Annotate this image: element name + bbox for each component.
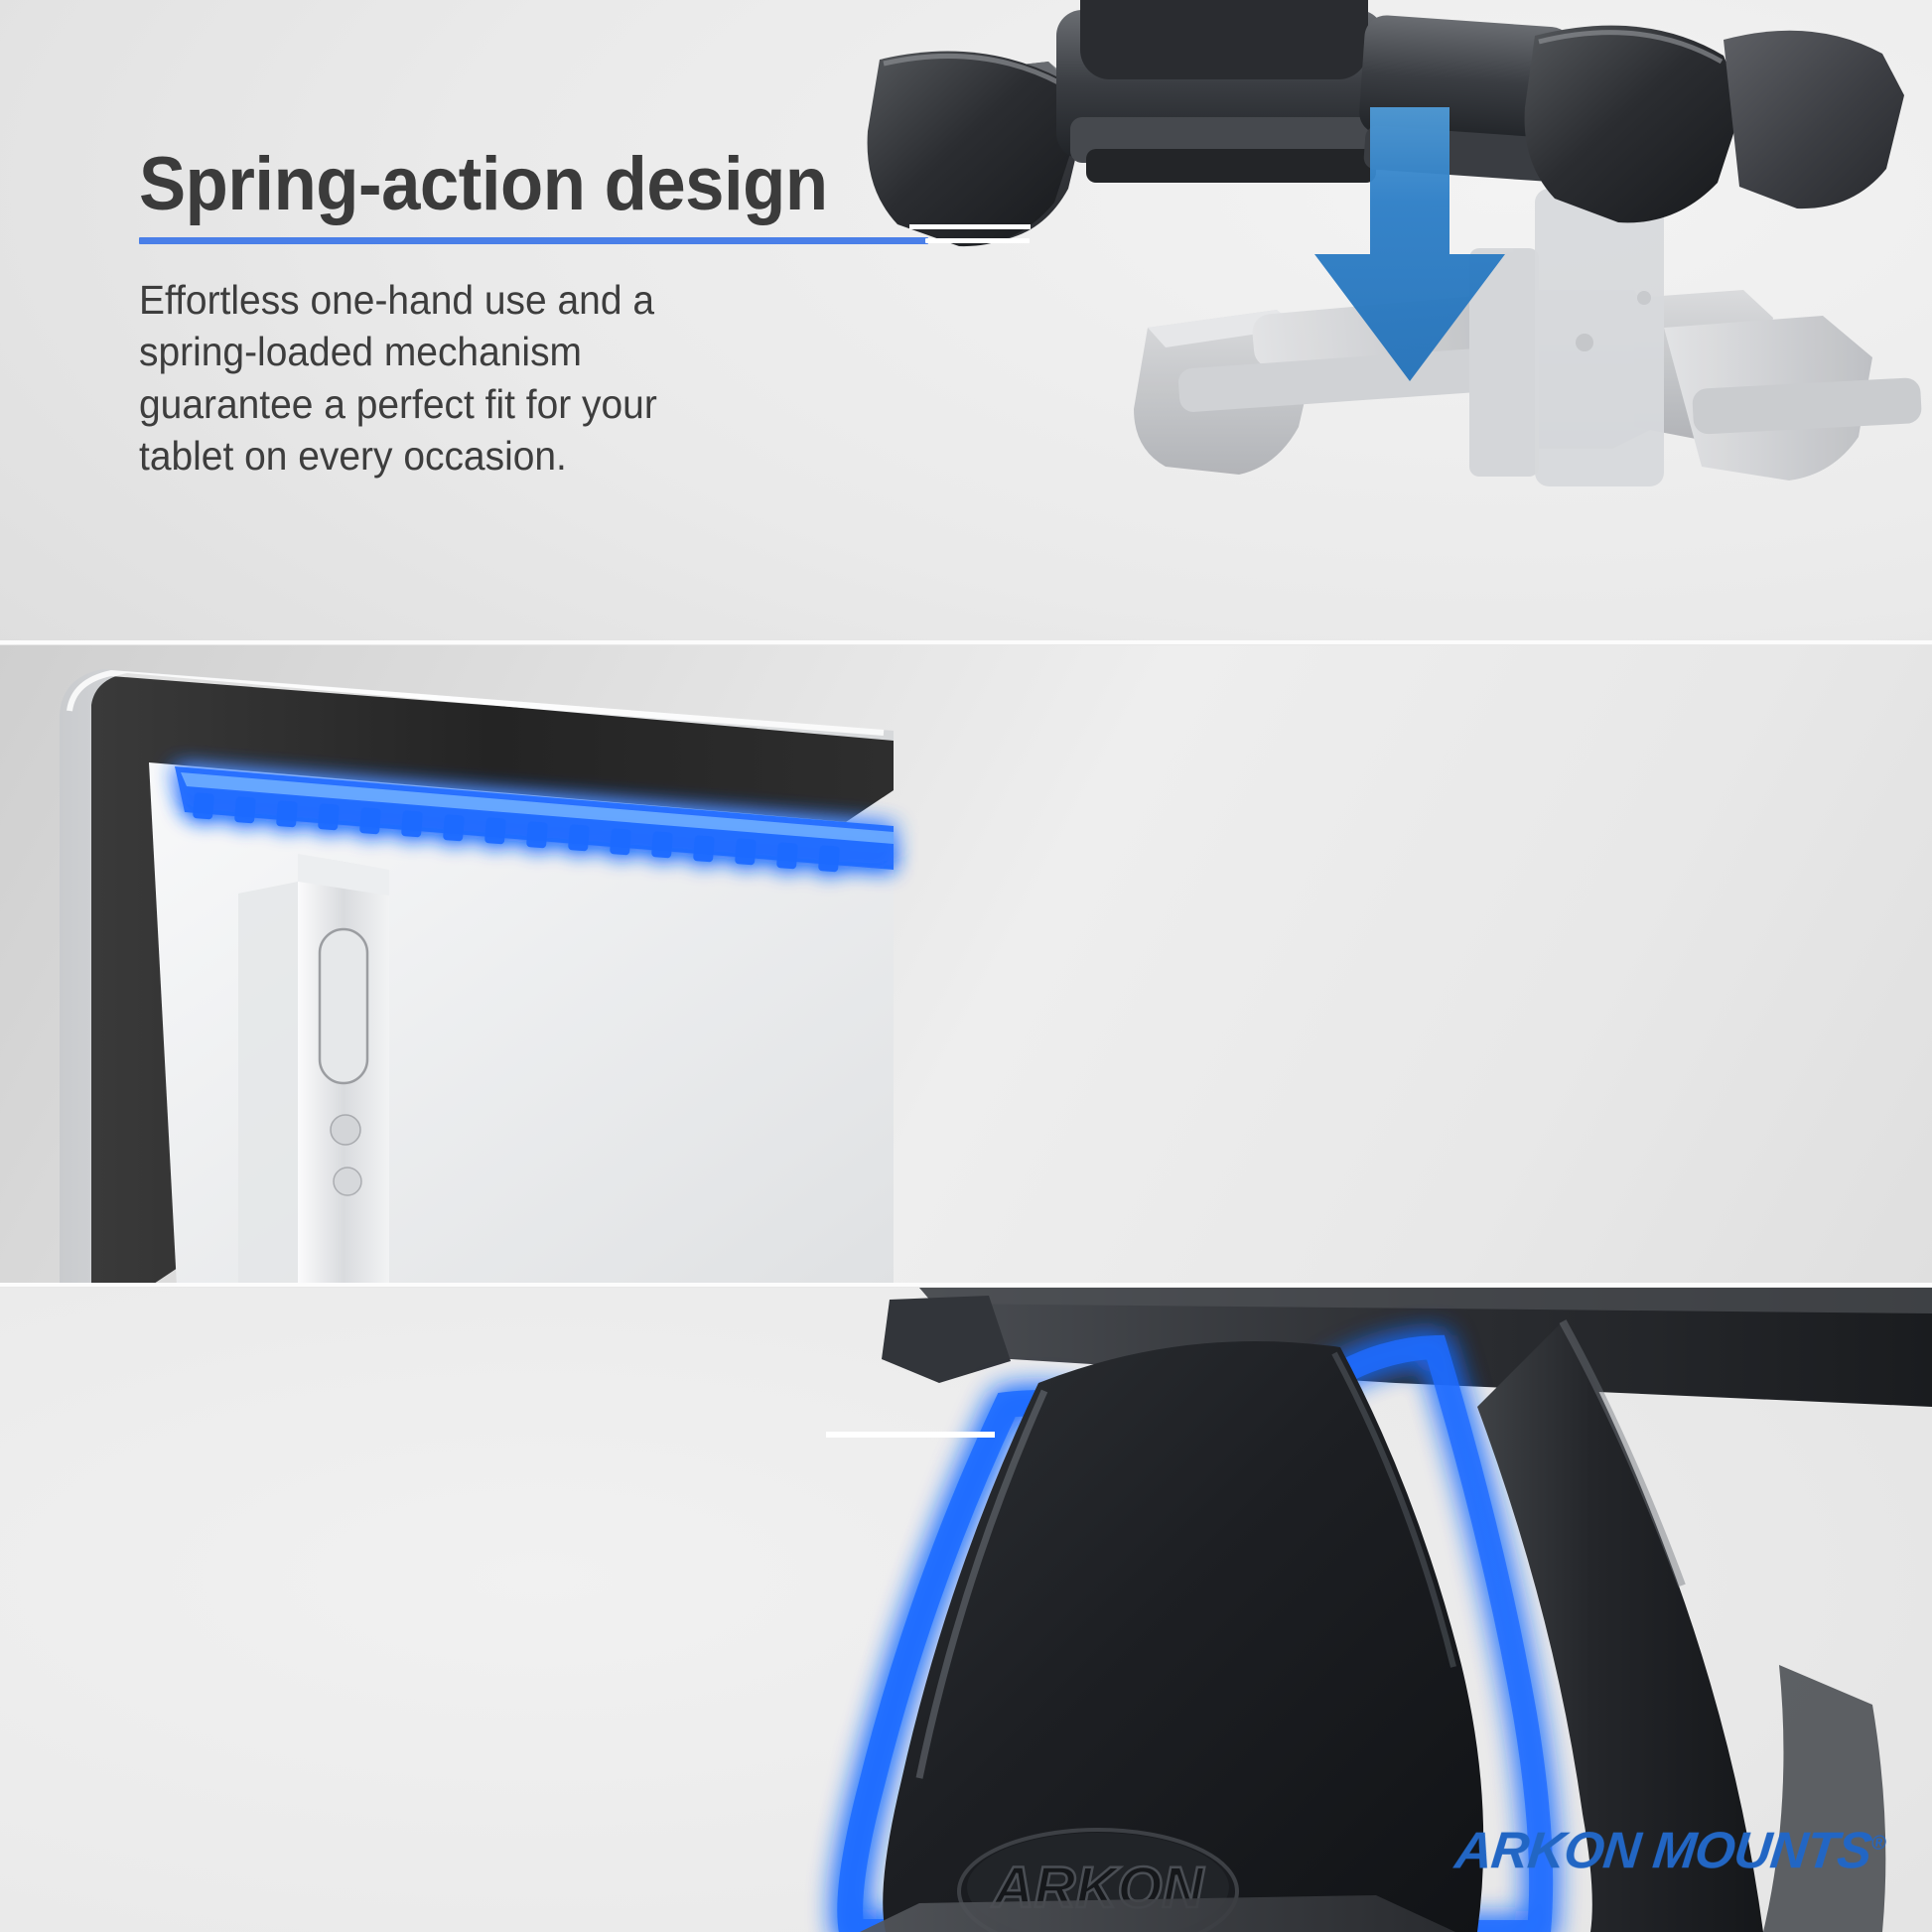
volume-button [320, 929, 367, 1083]
tablet-side-edge [238, 854, 389, 1286]
leader-tick [826, 1432, 995, 1438]
ghost-assembly [1134, 189, 1922, 486]
panel-heading: Spring-action design [139, 147, 828, 222]
body-line: Effortless one-hand use and a [139, 274, 843, 326]
feature-text-spring-action: Spring-action design Effortless one-hand… [139, 147, 880, 483]
feature-panel-grip-enhance: Grip-enhance grooves Designed to accommo… [0, 645, 1932, 1286]
panel-divider [0, 640, 1932, 644]
body-line: spring-loaded mechanism [139, 326, 843, 377]
body-line: tablet on every occasion. [139, 430, 843, 482]
accent-rule [139, 237, 928, 244]
product-image-grip-grooves [0, 645, 933, 1286]
product-image-spring-action [850, 0, 1932, 643]
body-line: guarantee a perfect fit for your [139, 378, 843, 430]
infographic-sheet: Spring-action design Effortless one-hand… [0, 0, 1932, 1932]
arkon-mounts-logo: ARKON MOUNTS® [1452, 1821, 1887, 1880]
leader-tick [909, 224, 1031, 229]
heading-rule-group [139, 237, 880, 244]
leader-line [925, 238, 1030, 243]
registered-mark: ® [1870, 1833, 1886, 1855]
feature-panel-padded-stability: ARKON Padded for stability Padded grip s… [0, 1288, 1932, 1932]
feature-panel-spring-action: Spring-action design Effortless one-hand… [0, 0, 1932, 643]
brand-logo-text: ARKON MOUNTS [1452, 1822, 1874, 1879]
panel-divider [0, 1283, 1932, 1287]
panel-body: Effortless one-hand use and a spring-loa… [139, 274, 843, 483]
